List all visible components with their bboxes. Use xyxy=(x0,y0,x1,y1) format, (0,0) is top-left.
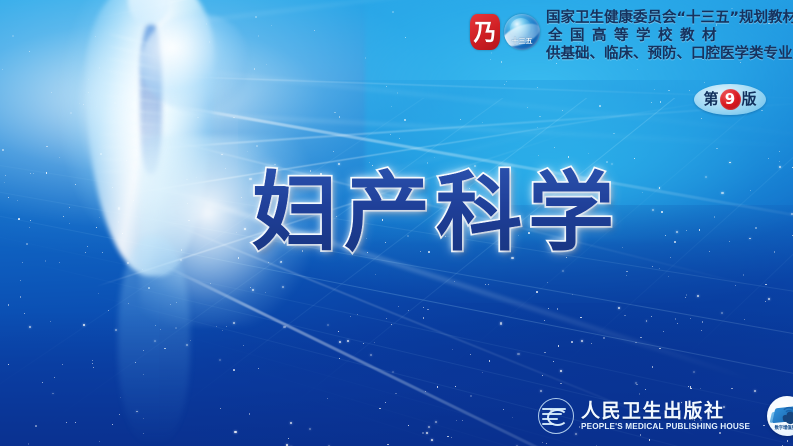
star-speck xyxy=(755,227,756,228)
star-speck xyxy=(386,86,387,87)
star-speck xyxy=(500,322,502,324)
star-speck xyxy=(258,368,259,369)
star-speck xyxy=(327,324,329,326)
star-speck xyxy=(222,330,223,331)
star-speck xyxy=(29,326,31,328)
star-speck xyxy=(665,235,667,237)
star-speck xyxy=(677,323,678,324)
star-speck xyxy=(660,101,662,103)
star-speck xyxy=(688,386,689,387)
star-speck xyxy=(35,425,37,427)
star-speck xyxy=(702,321,703,322)
star-speck xyxy=(686,294,688,296)
main-title: 妇产科学 xyxy=(252,163,620,263)
star-speck xyxy=(395,393,396,394)
star-speck xyxy=(659,268,660,269)
star-speck xyxy=(704,82,705,83)
star-speck xyxy=(588,153,589,154)
star-speck xyxy=(716,148,717,149)
star-speck xyxy=(426,432,428,434)
seal-mark-glyph: 乃 xyxy=(470,14,500,50)
star-speck xyxy=(668,276,669,277)
star-speck xyxy=(451,437,452,438)
star-speck xyxy=(527,107,528,108)
star-speck xyxy=(540,390,542,392)
star-speck xyxy=(62,364,63,365)
star-speck xyxy=(234,431,236,433)
publisher-name-block: 人民卫生出版社 PEOPLE'S MEDICAL PUBLISHING HOUS… xyxy=(581,401,750,432)
star-speck xyxy=(52,393,54,395)
star-speck xyxy=(572,294,573,295)
main-title-wrap: 妇产科学 妇产科学 xyxy=(252,163,612,263)
star-speck xyxy=(290,422,292,424)
edition-badge: 第 9 版 xyxy=(694,84,766,115)
star-speck xyxy=(404,119,405,120)
star-speck xyxy=(397,92,399,94)
star-speck xyxy=(363,343,364,344)
star-speck xyxy=(731,388,732,389)
star-speck xyxy=(690,318,691,319)
star-speck xyxy=(731,8,732,9)
star-speck xyxy=(428,426,430,428)
star-speck xyxy=(286,444,288,446)
star-speck xyxy=(470,354,471,355)
publisher-name-cn: 人民卫生出版社 xyxy=(581,401,750,422)
star-speck xyxy=(701,330,702,331)
star-speck xyxy=(705,176,707,178)
star-speck xyxy=(339,358,340,359)
star-speck xyxy=(28,443,29,444)
star-speck xyxy=(635,342,637,344)
star-speck xyxy=(75,422,76,423)
star-speck xyxy=(537,87,538,88)
star-speck xyxy=(544,352,545,353)
star-speck xyxy=(743,274,745,276)
header-line-scope: 全国高等学校教材 xyxy=(546,28,793,45)
star-speck xyxy=(560,383,562,385)
star-speck xyxy=(642,192,643,193)
star-speck xyxy=(779,161,781,163)
star-speck xyxy=(547,282,548,283)
header-line-program: 国家卫生健康委员会“十三五”规划教材 xyxy=(546,10,793,27)
star-speck xyxy=(721,192,723,194)
figure-shoulder xyxy=(140,14,248,110)
star-speck xyxy=(624,315,626,317)
star-speck xyxy=(390,134,391,135)
star-speck xyxy=(729,241,730,242)
star-speck xyxy=(54,377,55,378)
star-speck xyxy=(506,81,507,82)
star-speck xyxy=(517,353,519,355)
star-speck xyxy=(447,436,449,438)
header-block: 乃 十三五 国家卫生健康委员会“十三五”规划教材 全国高等学校教材 供基础、临床… xyxy=(470,10,790,63)
star-speck xyxy=(640,337,642,339)
pmph-circular-emblem xyxy=(538,398,574,434)
star-speck xyxy=(119,414,120,415)
star-speck xyxy=(456,420,457,421)
star-speck xyxy=(339,116,341,118)
star-speck xyxy=(646,320,648,322)
edition-number: 9 xyxy=(720,89,741,110)
star-speck xyxy=(357,314,358,315)
textbook-cover-slide: 乃 十三五 国家卫生健康委员会“十三五”规划教材 全国高等学校教材 供基础、临床… xyxy=(0,0,793,446)
star-speck xyxy=(765,284,766,285)
star-speck xyxy=(571,341,573,343)
star-speck xyxy=(562,270,564,272)
star-speck xyxy=(689,90,690,91)
star-speck xyxy=(659,187,661,189)
pmph-red-seal-logo: 乃 xyxy=(470,14,500,50)
star-speck xyxy=(190,340,191,341)
header-text-lines: 国家卫生健康委员会“十三五”规划教材 全国高等学校教材 供基础、临床、预防、口腔… xyxy=(546,10,793,63)
star-speck xyxy=(659,348,660,349)
star-speck xyxy=(693,371,695,373)
edition-prefix: 第 xyxy=(703,92,718,107)
star-speck xyxy=(636,384,637,385)
star-speck xyxy=(546,443,547,444)
emblem-g-glyph xyxy=(547,409,568,426)
star-speck xyxy=(701,118,702,119)
publisher-name-en: PEOPLE'S MEDICAL PUBLISHING HOUSE xyxy=(581,422,750,432)
star-speck xyxy=(622,247,623,248)
star-speck xyxy=(375,274,376,275)
star-speck xyxy=(435,421,437,423)
star-speck xyxy=(675,318,677,320)
star-speck xyxy=(333,151,334,152)
star-speck xyxy=(626,275,627,276)
publisher-footer: 人民卫生出版社 PEOPLE'S MEDICAL PUBLISHING HOUS… xyxy=(538,396,793,436)
star-speck xyxy=(779,166,781,168)
star-speck xyxy=(347,340,349,342)
globe-swoosh xyxy=(504,19,540,50)
star-speck xyxy=(327,398,328,399)
star-speck xyxy=(92,360,93,361)
star-speck xyxy=(99,441,100,442)
star-speck xyxy=(774,251,776,253)
header-line-audience: 供基础、临床、预防、口腔医学类专业用 xyxy=(546,46,793,63)
star-speck xyxy=(553,361,554,362)
star-speck xyxy=(754,390,756,392)
star-speck xyxy=(557,308,558,309)
star-speck xyxy=(488,284,489,285)
star-speck xyxy=(387,444,388,445)
star-speck xyxy=(542,375,543,376)
thirteenth-five-year-globe-logo: 十三五 xyxy=(504,14,540,50)
star-speck xyxy=(697,295,699,297)
star-speck xyxy=(470,395,471,396)
star-speck xyxy=(512,417,513,418)
star-speck xyxy=(652,266,653,267)
star-speck xyxy=(690,388,691,389)
star-speck xyxy=(676,231,678,233)
star-speck xyxy=(649,439,651,441)
star-speck xyxy=(674,241,676,243)
star-speck xyxy=(452,349,453,350)
star-speck xyxy=(651,316,652,317)
star-speck xyxy=(661,211,662,212)
star-speck xyxy=(536,291,537,292)
star-speck xyxy=(699,229,700,230)
star-speck xyxy=(591,343,592,344)
star-speck xyxy=(652,366,653,367)
star-speck xyxy=(350,316,351,317)
globe-caption: 十三五 xyxy=(504,38,540,45)
star-speck xyxy=(670,257,671,258)
star-speck xyxy=(556,63,557,64)
star-speck xyxy=(338,331,339,332)
star-speck xyxy=(379,408,381,410)
star-speck xyxy=(482,122,483,123)
star-speck xyxy=(392,11,394,13)
edition-suffix: 版 xyxy=(742,92,757,107)
star-speck xyxy=(93,367,94,368)
star-speck xyxy=(427,309,429,311)
star-speck xyxy=(544,320,545,321)
star-speck xyxy=(626,271,627,272)
star-speck xyxy=(226,326,227,327)
star-speck xyxy=(779,151,780,152)
star-speck xyxy=(288,438,289,439)
star-speck xyxy=(735,285,736,286)
star-speck xyxy=(314,30,315,31)
star-speck xyxy=(334,112,336,114)
star-speck xyxy=(729,162,731,164)
star-speck xyxy=(538,155,539,156)
star-speck xyxy=(455,386,456,387)
star-speck xyxy=(243,345,244,346)
star-speck xyxy=(554,147,555,148)
star-speck xyxy=(408,425,409,426)
star-speck xyxy=(603,337,604,338)
star-speck xyxy=(651,102,652,103)
star-speck xyxy=(398,306,399,307)
star-speck xyxy=(744,319,745,320)
star-speck xyxy=(437,386,439,388)
star-speck xyxy=(613,133,614,134)
star-speck xyxy=(339,341,341,343)
star-speck xyxy=(686,230,687,231)
star-speck xyxy=(233,369,235,371)
star-speck xyxy=(634,158,635,159)
star-speck xyxy=(768,298,770,300)
star-speck xyxy=(560,370,562,372)
star-speck xyxy=(431,439,433,441)
star-speck xyxy=(485,284,486,285)
star-speck xyxy=(408,310,409,311)
star-speck xyxy=(548,308,549,309)
star-speck xyxy=(423,317,424,318)
star-speck xyxy=(83,324,85,326)
star-speck xyxy=(462,420,463,421)
star-speck xyxy=(370,354,372,356)
star-speck xyxy=(700,388,701,389)
star-speck xyxy=(434,157,435,158)
star-speck xyxy=(460,119,461,120)
star-speck xyxy=(219,359,221,361)
star-speck xyxy=(489,360,491,362)
star-speck xyxy=(220,408,222,410)
star-speck xyxy=(714,216,716,218)
star-speck xyxy=(309,428,311,430)
star-speck xyxy=(652,209,654,211)
star-speck xyxy=(423,307,424,308)
star-speck xyxy=(749,238,751,240)
star-speck xyxy=(454,281,455,282)
star-speck xyxy=(668,90,669,91)
star-speck xyxy=(558,345,559,346)
star-speck xyxy=(503,409,504,410)
star-speck xyxy=(685,297,686,298)
star-speck xyxy=(391,106,393,108)
star-speck xyxy=(562,110,563,111)
star-speck xyxy=(422,432,424,434)
badge-hand-pointer xyxy=(785,411,793,425)
star-speck xyxy=(386,318,387,319)
star-speck xyxy=(663,331,664,332)
star-speck xyxy=(639,393,640,394)
star-speck xyxy=(271,25,272,26)
star-speck xyxy=(721,312,723,314)
star-speck xyxy=(66,422,67,423)
star-speck xyxy=(92,363,94,365)
badge-caption: 数字增值服务 xyxy=(767,427,793,431)
star-speck xyxy=(542,442,543,443)
star-speck xyxy=(399,138,400,139)
star-speck xyxy=(787,440,789,442)
star-speck xyxy=(539,116,541,118)
star-speck xyxy=(482,372,483,373)
star-speck xyxy=(50,321,51,322)
star-speck xyxy=(42,382,43,383)
star-speck xyxy=(750,190,751,191)
star-speck xyxy=(645,389,646,390)
header-logos: 乃 十三五 xyxy=(470,10,540,50)
star-speck xyxy=(637,69,638,70)
star-speck xyxy=(391,324,392,325)
digital-service-badge[interactable]: 数字增值服务 xyxy=(767,396,793,436)
star-speck xyxy=(568,156,570,158)
star-speck xyxy=(765,301,766,302)
star-speck xyxy=(581,340,583,342)
star-speck xyxy=(249,413,251,415)
star-speck xyxy=(599,105,601,107)
star-speck xyxy=(365,57,366,58)
star-speck xyxy=(504,84,505,85)
star-speck xyxy=(425,391,426,392)
star-speck xyxy=(385,402,386,403)
star-speck xyxy=(112,424,113,425)
star-speck xyxy=(580,317,582,319)
star-speck xyxy=(618,307,620,309)
figure-lower-body xyxy=(118,236,190,446)
star-speck xyxy=(405,37,406,38)
star-speck xyxy=(374,342,375,343)
star-speck xyxy=(761,110,762,111)
star-speck xyxy=(392,371,394,373)
star-speck xyxy=(768,158,769,159)
star-speck xyxy=(537,127,538,128)
star-speck xyxy=(8,364,9,365)
star-speck xyxy=(120,397,121,398)
star-speck xyxy=(654,89,655,90)
star-speck xyxy=(709,251,710,252)
